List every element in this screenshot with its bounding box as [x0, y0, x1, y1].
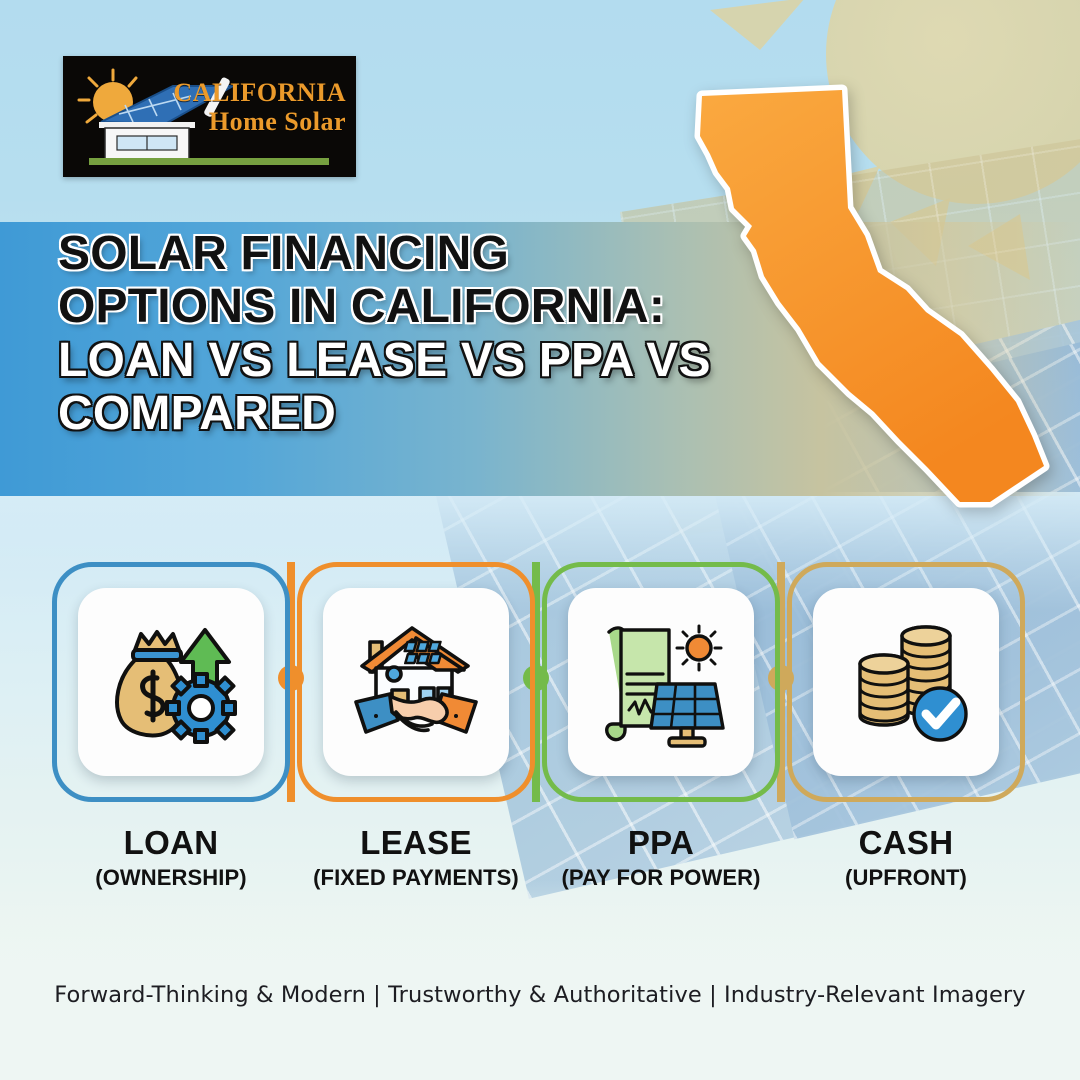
label-ppa-title: PPA: [531, 826, 791, 861]
brand-logo[interactable]: CALIFORNIA Home Solar: [63, 56, 356, 177]
infographic-canvas: CALIFORNIA Home Solar SOLAR FINANCING OP…: [0, 0, 1080, 1080]
card-cash[interactable]: [787, 562, 1025, 802]
label-cash-title: CASH: [776, 826, 1036, 861]
card-tile-ppa: [568, 588, 754, 776]
label-loan-sub: (OWNERSHIP): [41, 865, 301, 891]
bottom-fade: [0, 880, 1080, 1080]
title-line-2: OPTIONS IN CALIFORNIA:: [58, 281, 818, 332]
footer-tagline: Forward-Thinking & Modern | Trustworthy …: [0, 982, 1080, 1008]
logo-line-1: CALIFORNIA: [173, 80, 346, 107]
label-lease: LEASE (FIXED PAYMENTS): [286, 826, 546, 891]
logo-green-strip: [89, 158, 329, 165]
label-loan-title: LOAN: [41, 826, 301, 861]
label-cash-sub: (UPFRONT): [776, 865, 1036, 891]
coin-stacks-check-icon: [836, 612, 976, 752]
logo-wordmark: CALIFORNIA Home Solar: [173, 80, 346, 135]
card-tile-loan: [78, 588, 264, 776]
house-solar-handshake-icon: [346, 612, 486, 752]
label-cash: CASH (UPFRONT): [776, 826, 1036, 891]
card-ppa[interactable]: [542, 562, 780, 802]
financing-options-row: [0, 562, 1080, 812]
label-loan: LOAN (OWNERSHIP): [41, 826, 301, 891]
title-line-3: LOAN VS LEASE VS PPA VS: [58, 335, 818, 386]
label-lease-sub: (FIXED PAYMENTS): [286, 865, 546, 891]
money-bag-growth-gear-icon: [101, 612, 241, 752]
logo-line-2: Home Solar: [173, 109, 346, 136]
label-ppa-sub: (PAY FOR POWER): [531, 865, 791, 891]
card-tile-cash: [813, 588, 999, 776]
page-title: SOLAR FINANCING OPTIONS IN CALIFORNIA: L…: [58, 228, 818, 441]
card-tile-lease: [323, 588, 509, 776]
label-lease-title: LEASE: [286, 826, 546, 861]
label-ppa: PPA (PAY FOR POWER): [531, 826, 791, 891]
title-line-4: COMPARED: [58, 388, 818, 439]
ppa-contract-solar-panel-sun-icon: [591, 612, 731, 752]
title-line-1: SOLAR FINANCING: [58, 228, 818, 279]
card-loan[interactable]: [52, 562, 290, 802]
card-lease[interactable]: [297, 562, 535, 802]
